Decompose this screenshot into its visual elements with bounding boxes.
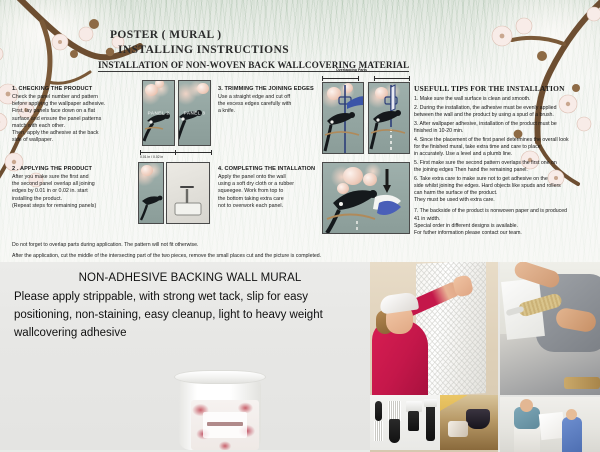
tip-item: 4. Since the placement of the first pane… xyxy=(414,137,598,159)
smoother-handle-icon xyxy=(389,419,400,443)
man-legs xyxy=(514,427,540,452)
step-4-body: Apply the panel onto the wall using a so… xyxy=(218,174,330,210)
step-1-illustration: PANEL 2 PANEL 3 xyxy=(142,80,211,146)
footnote-cutting: After the application, cut the middle of… xyxy=(12,253,321,259)
step-3-heading: 3. TRIMMING THE JOINING EDGES xyxy=(218,86,330,92)
step-4-heading: 4. COMPLETING THE INTALLATION xyxy=(218,166,330,172)
man-head xyxy=(520,399,533,412)
tip-item: 5. First make sure the second pattern ov… xyxy=(414,160,598,174)
smoothing-comb-icon xyxy=(388,401,401,421)
panel-2-label: PANEL 2 xyxy=(148,111,170,116)
step-3-trimming-the-joining-edges: 3. TRIMMING THE JOINING EDGES Use a stra… xyxy=(218,86,330,116)
trim-panel-right-image xyxy=(368,82,410,154)
step-2-heading: 2 . APPLYING THE PRODUCT xyxy=(12,166,136,172)
promo-text-block: NON-ADHESIVE BACKING WALL MURAL Please a… xyxy=(14,270,366,342)
paste-bowl xyxy=(466,409,490,429)
step-3-illustration xyxy=(322,82,410,154)
step-1-heading: 1. CHECKING THE PRODUCT xyxy=(12,86,136,92)
trim-panel-left-image xyxy=(322,82,364,154)
promo-title: NON-ADHESIVE BACKING WALL MURAL xyxy=(14,270,366,287)
photo-tools-set xyxy=(370,395,440,450)
step-2-body: After you make sure the first and the se… xyxy=(12,174,136,210)
step-4-completing-the-installation: 4. COMPLETING THE INTALLATION Apply the … xyxy=(218,166,330,210)
overlap-measurement: 0.01 in / 0.02 in xyxy=(140,150,212,159)
wall-surface-image xyxy=(166,162,210,224)
photo-man-and-boy xyxy=(500,397,600,452)
instruction-sheet: POSTER ( MURAL ) INSTALLING INSTRUCTIONS… xyxy=(0,0,600,262)
scraper-handle-icon xyxy=(408,411,419,431)
boy-head xyxy=(566,409,577,420)
overlap-bracket xyxy=(322,76,410,81)
putty-knife-icon xyxy=(426,403,435,441)
tip-item: 6. Take extra care to make sure not to g… xyxy=(414,176,598,205)
footnote-overlap: Do not forget to overlap parts during ap… xyxy=(12,242,198,248)
tip-item: 3. After wallpaper adhesive, installatio… xyxy=(414,121,598,135)
panel-2-image: PANEL 2 xyxy=(142,80,175,146)
step-4-illustration xyxy=(322,162,410,234)
wallpaper-roll xyxy=(448,421,468,437)
useful-tips-section: USEFULL TIPS FOR THE INSTALLATION 1. Mak… xyxy=(414,84,598,237)
bucket-label-bar xyxy=(207,422,243,426)
step-3-body: Use a straight edge and cut off the exce… xyxy=(218,94,330,116)
tips-title: USEFULL TIPS FOR THE INSTALLATION xyxy=(414,84,598,93)
tip-item-7: 7. The backside of the product is nonwov… xyxy=(414,208,598,237)
measure-label: 0.01 in / 0.02 in xyxy=(140,155,212,159)
wooden-tool xyxy=(564,377,600,389)
step-2-applying-the-product: 2 . APPLYING THE PRODUCT After you make … xyxy=(12,166,136,210)
panel-3-image: PANEL 3 xyxy=(178,80,211,146)
step-1-body: Check the panel number and pattern befor… xyxy=(12,94,136,144)
panel-3-label: PANEL 3 xyxy=(184,111,206,116)
photo-workbench-tools xyxy=(440,395,498,450)
bucket-label xyxy=(191,400,259,450)
seam-roller-icon xyxy=(374,421,383,441)
title-line-2: INSTALLING INSTRUCTIONS xyxy=(110,43,289,58)
tip-item: 1. Make sure the wall surface is clean a… xyxy=(414,96,598,103)
title-line-1: POSTER ( MURAL ) xyxy=(110,28,289,43)
step-1-checking-the-product: 1. CHECKING THE PRODUCT Check the panel … xyxy=(12,86,136,144)
putty-knife-blade-icon xyxy=(424,399,437,407)
boy-body xyxy=(562,417,582,452)
brush-handle-icon xyxy=(375,401,382,421)
step-2-illustration xyxy=(138,162,210,224)
bucket-lid xyxy=(174,370,266,384)
adhesive-bucket-image xyxy=(174,370,266,448)
tips-list: 1. Make sure the wall surface is clean a… xyxy=(414,96,598,204)
step-2-panel-image xyxy=(138,162,164,224)
page-title: POSTER ( MURAL ) INSTALLING INSTRUCTIONS xyxy=(110,28,289,58)
overlapping-parts-label: Overlapping Parts xyxy=(336,68,367,72)
photo-hands-with-roller xyxy=(500,262,600,395)
bucket-body xyxy=(179,380,261,450)
tip-item: 2. During the installation, the adhesive… xyxy=(414,105,598,119)
promo-body: Please apply strippable, with strong wet… xyxy=(14,288,366,342)
